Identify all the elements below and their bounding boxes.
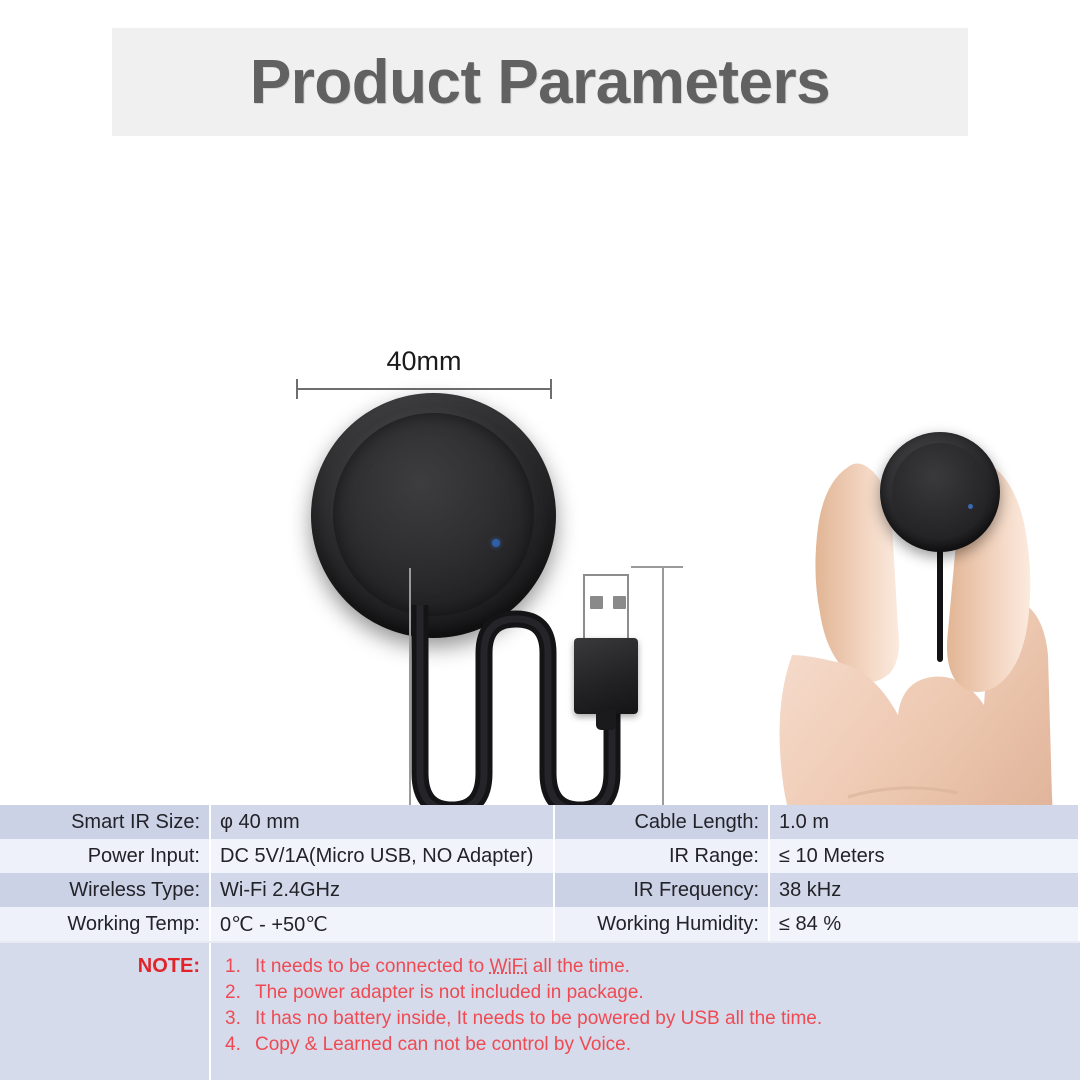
held-device-face-icon (892, 443, 988, 540)
note-number: 3. (225, 1006, 255, 1032)
spec-label-ir-frequency: IR Frequency: (555, 873, 770, 907)
note-title-cell: NOTE: (0, 943, 211, 1080)
note-title: NOTE: (138, 955, 200, 1080)
spec-value-cable-length: 1.0 m (770, 805, 1080, 839)
spec-label-cable-length: Cable Length: (555, 805, 770, 839)
note-text: It has no battery inside, It needs to be… (255, 1006, 822, 1032)
cable-dimension-top-tick-icon (631, 566, 683, 568)
usb-connector-body-icon (574, 638, 638, 714)
note-section: NOTE: 1. It needs to be connected to WiF… (0, 943, 1080, 1080)
held-device-led-icon (968, 504, 973, 509)
led-indicator-icon (492, 539, 500, 547)
note-emphasis: WiFi (490, 956, 528, 977)
dimension-tick-left-icon (296, 379, 298, 399)
spec-label-working-temp: Working Temp: (0, 907, 211, 941)
spec-label-ir-range: IR Range: (555, 839, 770, 873)
note-number: 2. (225, 980, 255, 1006)
note-text: Copy & Learned can not be control by Voi… (255, 1032, 631, 1058)
note-text: The power adapter is not included in pac… (255, 980, 644, 1006)
note-number: 1. (225, 954, 255, 980)
spec-label-working-humidity: Working Humidity: (555, 907, 770, 941)
page-title: Product Parameters (250, 47, 830, 118)
list-item: 3. It has no battery inside, It needs to… (225, 1006, 1080, 1032)
spec-label-power-input: Power Input: (0, 839, 211, 873)
spec-label-smart-ir-size: Smart IR Size: (0, 805, 211, 839)
page-title-banner: Product Parameters (112, 28, 968, 136)
spec-value-working-temp: 0℃ - +50℃ (211, 907, 555, 941)
list-item: 4. Copy & Learned can not be control by … (225, 1032, 1080, 1058)
width-dimension-label: 40mm (296, 346, 552, 377)
spec-value-working-humidity: ≤ 84 % (770, 907, 1080, 941)
spec-value-power-input: DC 5V/1A(Micro USB, NO Adapter) (211, 839, 555, 873)
spec-label-wireless-type: Wireless Type: (0, 873, 211, 907)
dimension-tick-right-icon (550, 379, 552, 399)
spec-value-smart-ir-size: φ 40 mm (211, 805, 555, 839)
list-item: 2. The power adapter is not included in … (225, 980, 1080, 1006)
note-list: 1. It needs to be connected to WiFi all … (211, 943, 1080, 1080)
product-diagram-area: 40mm 1m (0, 150, 1080, 800)
note-text: It needs to be connected to WiFi all the… (255, 954, 630, 980)
spec-value-ir-range: ≤ 10 Meters (770, 839, 1080, 873)
spec-value-wireless-type: Wi-Fi 2.4GHz (211, 873, 555, 907)
spec-value-ir-frequency: 38 kHz (770, 873, 1080, 907)
hand-device-cable-icon (937, 547, 943, 662)
note-number: 4. (225, 1032, 255, 1058)
usb-contact-pin-icon (590, 596, 603, 609)
list-item: 1. It needs to be connected to WiFi all … (225, 954, 1080, 980)
usb-strain-relief-icon (596, 710, 616, 730)
dimension-line-icon (296, 388, 552, 390)
held-device-icon (880, 432, 1000, 552)
usb-contact-pin-icon (613, 596, 626, 609)
